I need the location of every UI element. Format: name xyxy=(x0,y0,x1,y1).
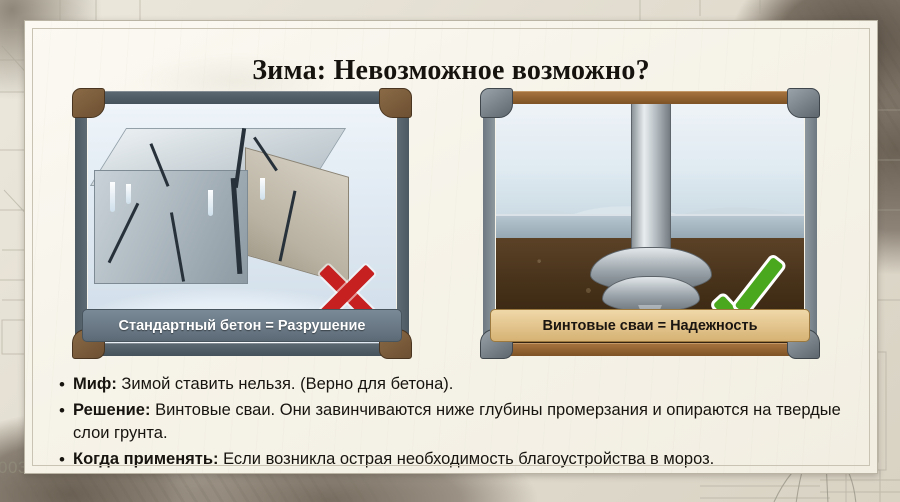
slide-canvas: 003. Зима: Невозможное возможно? xyxy=(0,0,900,502)
frame-rail-bottom xyxy=(497,343,803,356)
slide-title: Зима: Невозможное возможно? xyxy=(25,55,877,87)
bullet-body: Винтовые сваи. Они завинчиваются ниже гл… xyxy=(73,401,841,442)
bullet-lead: Решение: xyxy=(73,401,150,419)
frame-rail-top xyxy=(497,91,803,104)
bullet-text: Решение: Винтовые сваи. Они завинчиваютс… xyxy=(73,399,851,445)
panel-standard-concrete[interactable]: Стандартный бетон = Разрушение xyxy=(75,91,409,356)
frame-rail-top xyxy=(89,91,395,104)
frame-corner-top-right xyxy=(379,88,412,118)
bullet-item-when: • Когда применять: Если возникла острая … xyxy=(59,448,851,471)
caption-standard-concrete: Стандартный бетон = Разрушение xyxy=(82,309,402,342)
bullet-item-solution: • Решение: Винтовые сваи. Они завинчиваю… xyxy=(59,399,851,445)
bullet-lead: Когда применять: xyxy=(73,450,219,468)
bullet-marker: • xyxy=(59,373,73,396)
frame-rail-bottom xyxy=(89,343,395,356)
frame-corner-top-left xyxy=(480,88,513,118)
frame-rail-left xyxy=(483,105,495,342)
bullet-text: Когда применять: Если возникла острая не… xyxy=(73,448,714,471)
slide-card: Зима: Невозможное возможно? xyxy=(24,20,878,474)
bullet-marker: • xyxy=(59,399,73,422)
bullet-item-myth: • Миф: Зимой ставить нельзя. (Верно для … xyxy=(59,373,851,396)
frame-rail-right xyxy=(805,105,817,342)
bullet-body: Если возникла острая необходимость благо… xyxy=(219,450,715,468)
caption-screw-piles: Винтовые сваи = Надежность xyxy=(490,309,810,342)
bullet-marker: • xyxy=(59,448,73,471)
frame-corner-top-right xyxy=(787,88,820,118)
bullet-text: Миф: Зимой ставить нельзя. (Верно для бе… xyxy=(73,373,453,396)
bullet-lead: Миф: xyxy=(73,375,117,393)
panel-screw-piles[interactable]: Винтовые сваи = Надежность xyxy=(483,91,817,356)
bullet-body: Зимой ставить нельзя. (Верно для бетона)… xyxy=(117,375,454,393)
bullet-list: • Миф: Зимой ставить нельзя. (Верно для … xyxy=(59,373,851,474)
frame-rail-right xyxy=(397,105,409,342)
frame-corner-top-left xyxy=(72,88,105,118)
frame-rail-left xyxy=(75,105,87,342)
